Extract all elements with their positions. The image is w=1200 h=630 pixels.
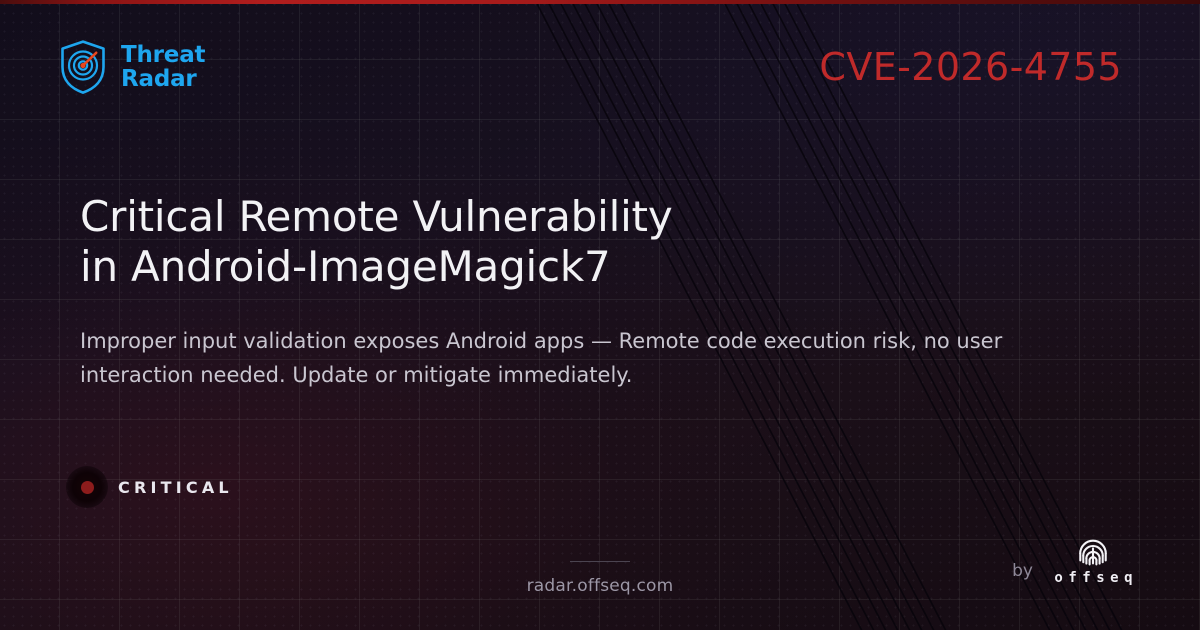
cve-social-card: Threat Radar CVE-2026-4755 Critical Remo… bbox=[0, 0, 1200, 630]
brand-name-line-1: Threat bbox=[121, 43, 205, 67]
brand-lockup[interactable]: Threat Radar bbox=[58, 39, 205, 95]
severity-label: CRITICAL bbox=[118, 478, 233, 497]
brand-name-line-2: Radar bbox=[121, 67, 205, 91]
cve-identifier: CVE-2026-4755 bbox=[819, 45, 1122, 89]
status-badge: CRITICAL bbox=[66, 466, 233, 508]
card-body: Critical Remote Vulnerability in Android… bbox=[80, 192, 1120, 392]
severity-dot-core bbox=[81, 481, 94, 494]
attribution[interactable]: by offseq bbox=[1012, 533, 1138, 586]
footer-divider bbox=[570, 561, 630, 562]
card-header: Threat Radar CVE-2026-4755 bbox=[58, 34, 1122, 100]
offseq-wordmark: offseq bbox=[1049, 570, 1138, 586]
brand-wordmark: Threat Radar bbox=[121, 43, 205, 92]
fingerprint-icon bbox=[1076, 533, 1110, 567]
offseq-lockup[interactable]: offseq bbox=[1049, 533, 1138, 586]
page-subtitle: Improper input validation exposes Androi… bbox=[80, 324, 1100, 392]
shield-radar-icon bbox=[58, 39, 108, 95]
top-accent-bar bbox=[0, 0, 1200, 4]
severity-dot-icon bbox=[66, 466, 108, 508]
footer-url[interactable]: radar.offseq.com bbox=[527, 576, 674, 596]
attribution-prefix: by bbox=[1012, 561, 1033, 586]
page-title: Critical Remote Vulnerability in Android… bbox=[80, 192, 720, 292]
